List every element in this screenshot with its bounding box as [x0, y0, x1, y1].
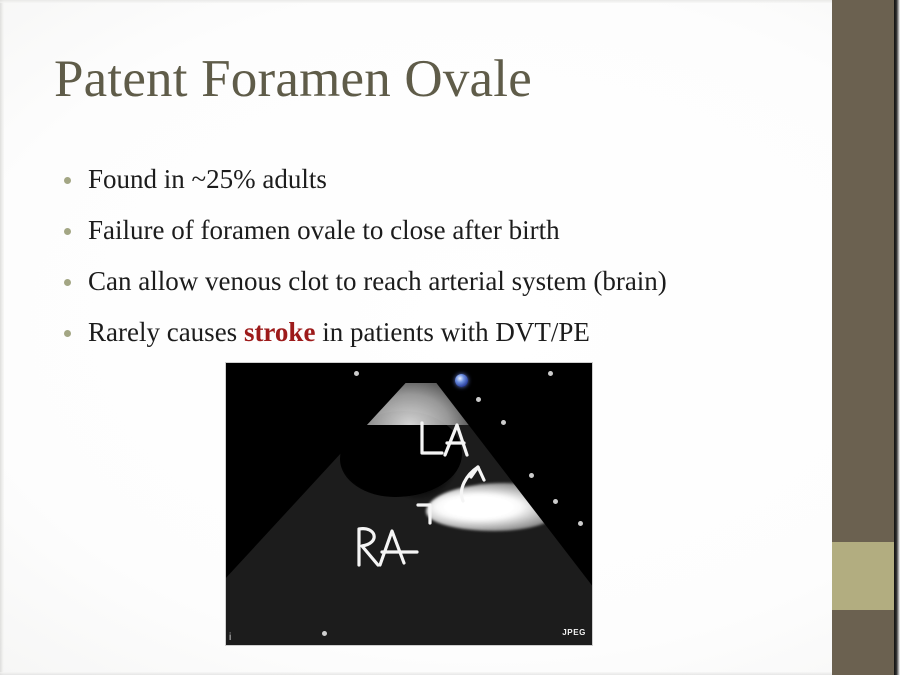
bullet-item: Rarely causes stroke in patients with DV… [60, 311, 800, 354]
echocardiogram-image: JPEG i [226, 363, 592, 645]
probe-orientation-dot-icon [455, 374, 468, 387]
slide-design-sidebar [832, 0, 900, 675]
bullet-dot-icon [64, 228, 71, 235]
presentation-slide: Patent Foramen Ovale Found in ~25% adult… [0, 0, 900, 675]
sidebar-edge-shadow [894, 0, 900, 675]
slide-top-edge [0, 0, 832, 3]
bullet-text-suffix: in patients with DVT/PE [315, 317, 589, 347]
bullet-text: Failure of foramen ovale to close after … [88, 215, 560, 245]
echo-speckle-marker [529, 473, 534, 478]
bullet-list: Found in ~25% adults Failure of foramen … [60, 158, 800, 362]
echo-speckle-marker [501, 420, 506, 425]
bullet-item: Failure of foramen ovale to close after … [60, 209, 800, 252]
slide-left-edge [0, 0, 4, 675]
bullet-item: Can allow venous clot to reach arterial … [60, 260, 800, 303]
slide-title: Patent Foramen Ovale [54, 52, 532, 108]
sidebar-band-accent [832, 542, 894, 610]
sidebar-band-upper [832, 0, 894, 542]
echo-format-tag: JPEG [562, 628, 586, 637]
bullet-dot-icon [64, 177, 71, 184]
bullet-item: Found in ~25% adults [60, 158, 800, 201]
echo-speckle-marker [578, 521, 583, 526]
echo-speckle-marker [354, 371, 359, 376]
bright-tissue-band [426, 483, 558, 531]
bullet-text: Can allow venous clot to reach arterial … [88, 266, 667, 296]
echo-speckle-marker [476, 397, 481, 402]
bullet-text-prefix: Rarely causes [88, 317, 244, 347]
left-atrium-chamber [340, 411, 462, 497]
bullet-text-emphasis: stroke [244, 317, 316, 347]
echo-speckle-marker [548, 371, 553, 376]
bullet-dot-icon [64, 279, 71, 286]
ultrasound-sector [226, 377, 592, 645]
slide-canvas: Patent Foramen Ovale Found in ~25% adult… [0, 0, 832, 675]
echo-image-inner: JPEG i [226, 363, 592, 645]
echo-speckle-marker [322, 631, 327, 636]
echo-corner-mark: i [229, 633, 231, 643]
bullet-text: Found in ~25% adults [88, 164, 327, 194]
sidebar-band-lower [832, 610, 894, 675]
bullet-dot-icon [64, 330, 71, 337]
echo-speckle-marker [553, 499, 558, 504]
